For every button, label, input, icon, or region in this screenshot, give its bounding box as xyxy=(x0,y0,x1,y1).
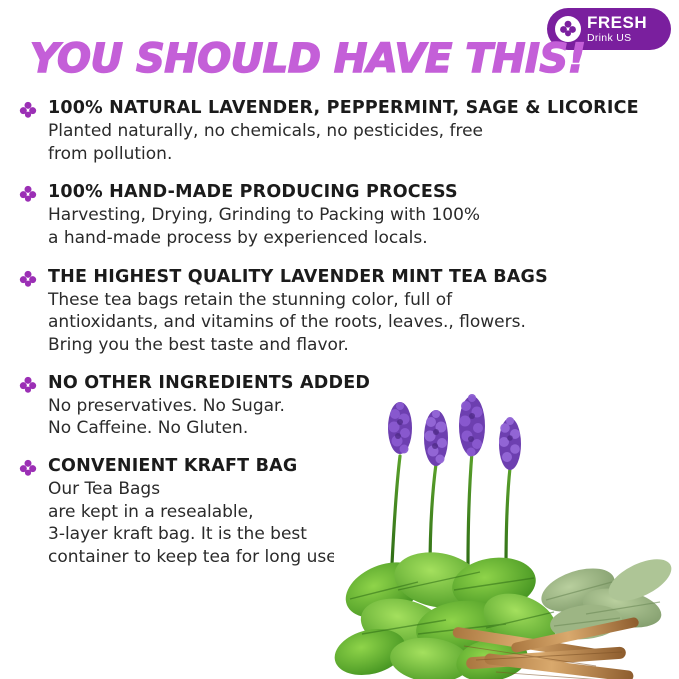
page-title: YOU SHOULD HAVE THIS! xyxy=(30,36,585,82)
feature-title: NO OTHER INGREDIENTS ADDED xyxy=(48,373,664,393)
product-infographic-page: FRESH Drink US YOU SHOULD HAVE THIS! 100… xyxy=(0,0,679,679)
feature-description: These tea bags retain the stunning color… xyxy=(48,289,664,357)
list-item: 100% NATURAL LAVENDER, PEPPERMINT, SAGE … xyxy=(16,98,664,165)
clover-bullet-icon xyxy=(18,184,38,204)
list-item: CONVENIENT KRAFT BAG Our Tea Bags are ke… xyxy=(16,456,664,569)
list-item: 100% HAND-MADE PRODUCING PROCESS Harvest… xyxy=(16,182,664,249)
list-item: THE HIGHEST QUALITY LAVENDER MINT TEA BA… xyxy=(16,267,664,357)
feature-title: 100% HAND-MADE PRODUCING PROCESS xyxy=(48,182,664,202)
feature-description: No preservatives. No Sugar. No Caffeine.… xyxy=(48,395,664,440)
feature-description: Harvesting, Drying, Grinding to Packing … xyxy=(48,204,664,249)
clover-bullet-icon xyxy=(18,375,38,395)
feature-description: Our Tea Bags are kept in a resealable, 3… xyxy=(48,478,664,568)
clover-bullet-icon xyxy=(18,100,38,120)
feature-list: 100% NATURAL LAVENDER, PEPPERMINT, SAGE … xyxy=(16,98,664,569)
list-item: NO OTHER INGREDIENTS ADDED No preservati… xyxy=(16,373,664,440)
clover-bullet-icon xyxy=(18,269,38,289)
feature-title: THE HIGHEST QUALITY LAVENDER MINT TEA BA… xyxy=(48,267,664,287)
brand-tagline: Drink US xyxy=(587,33,647,44)
feature-title: 100% NATURAL LAVENDER, PEPPERMINT, SAGE … xyxy=(48,98,664,118)
feature-title: CONVENIENT KRAFT BAG xyxy=(48,456,664,476)
brand-text: FRESH Drink US xyxy=(587,14,647,44)
feature-description: Planted naturally, no chemicals, no pest… xyxy=(48,120,664,165)
brand-name: FRESH xyxy=(587,14,647,31)
clover-bullet-icon xyxy=(18,458,38,478)
